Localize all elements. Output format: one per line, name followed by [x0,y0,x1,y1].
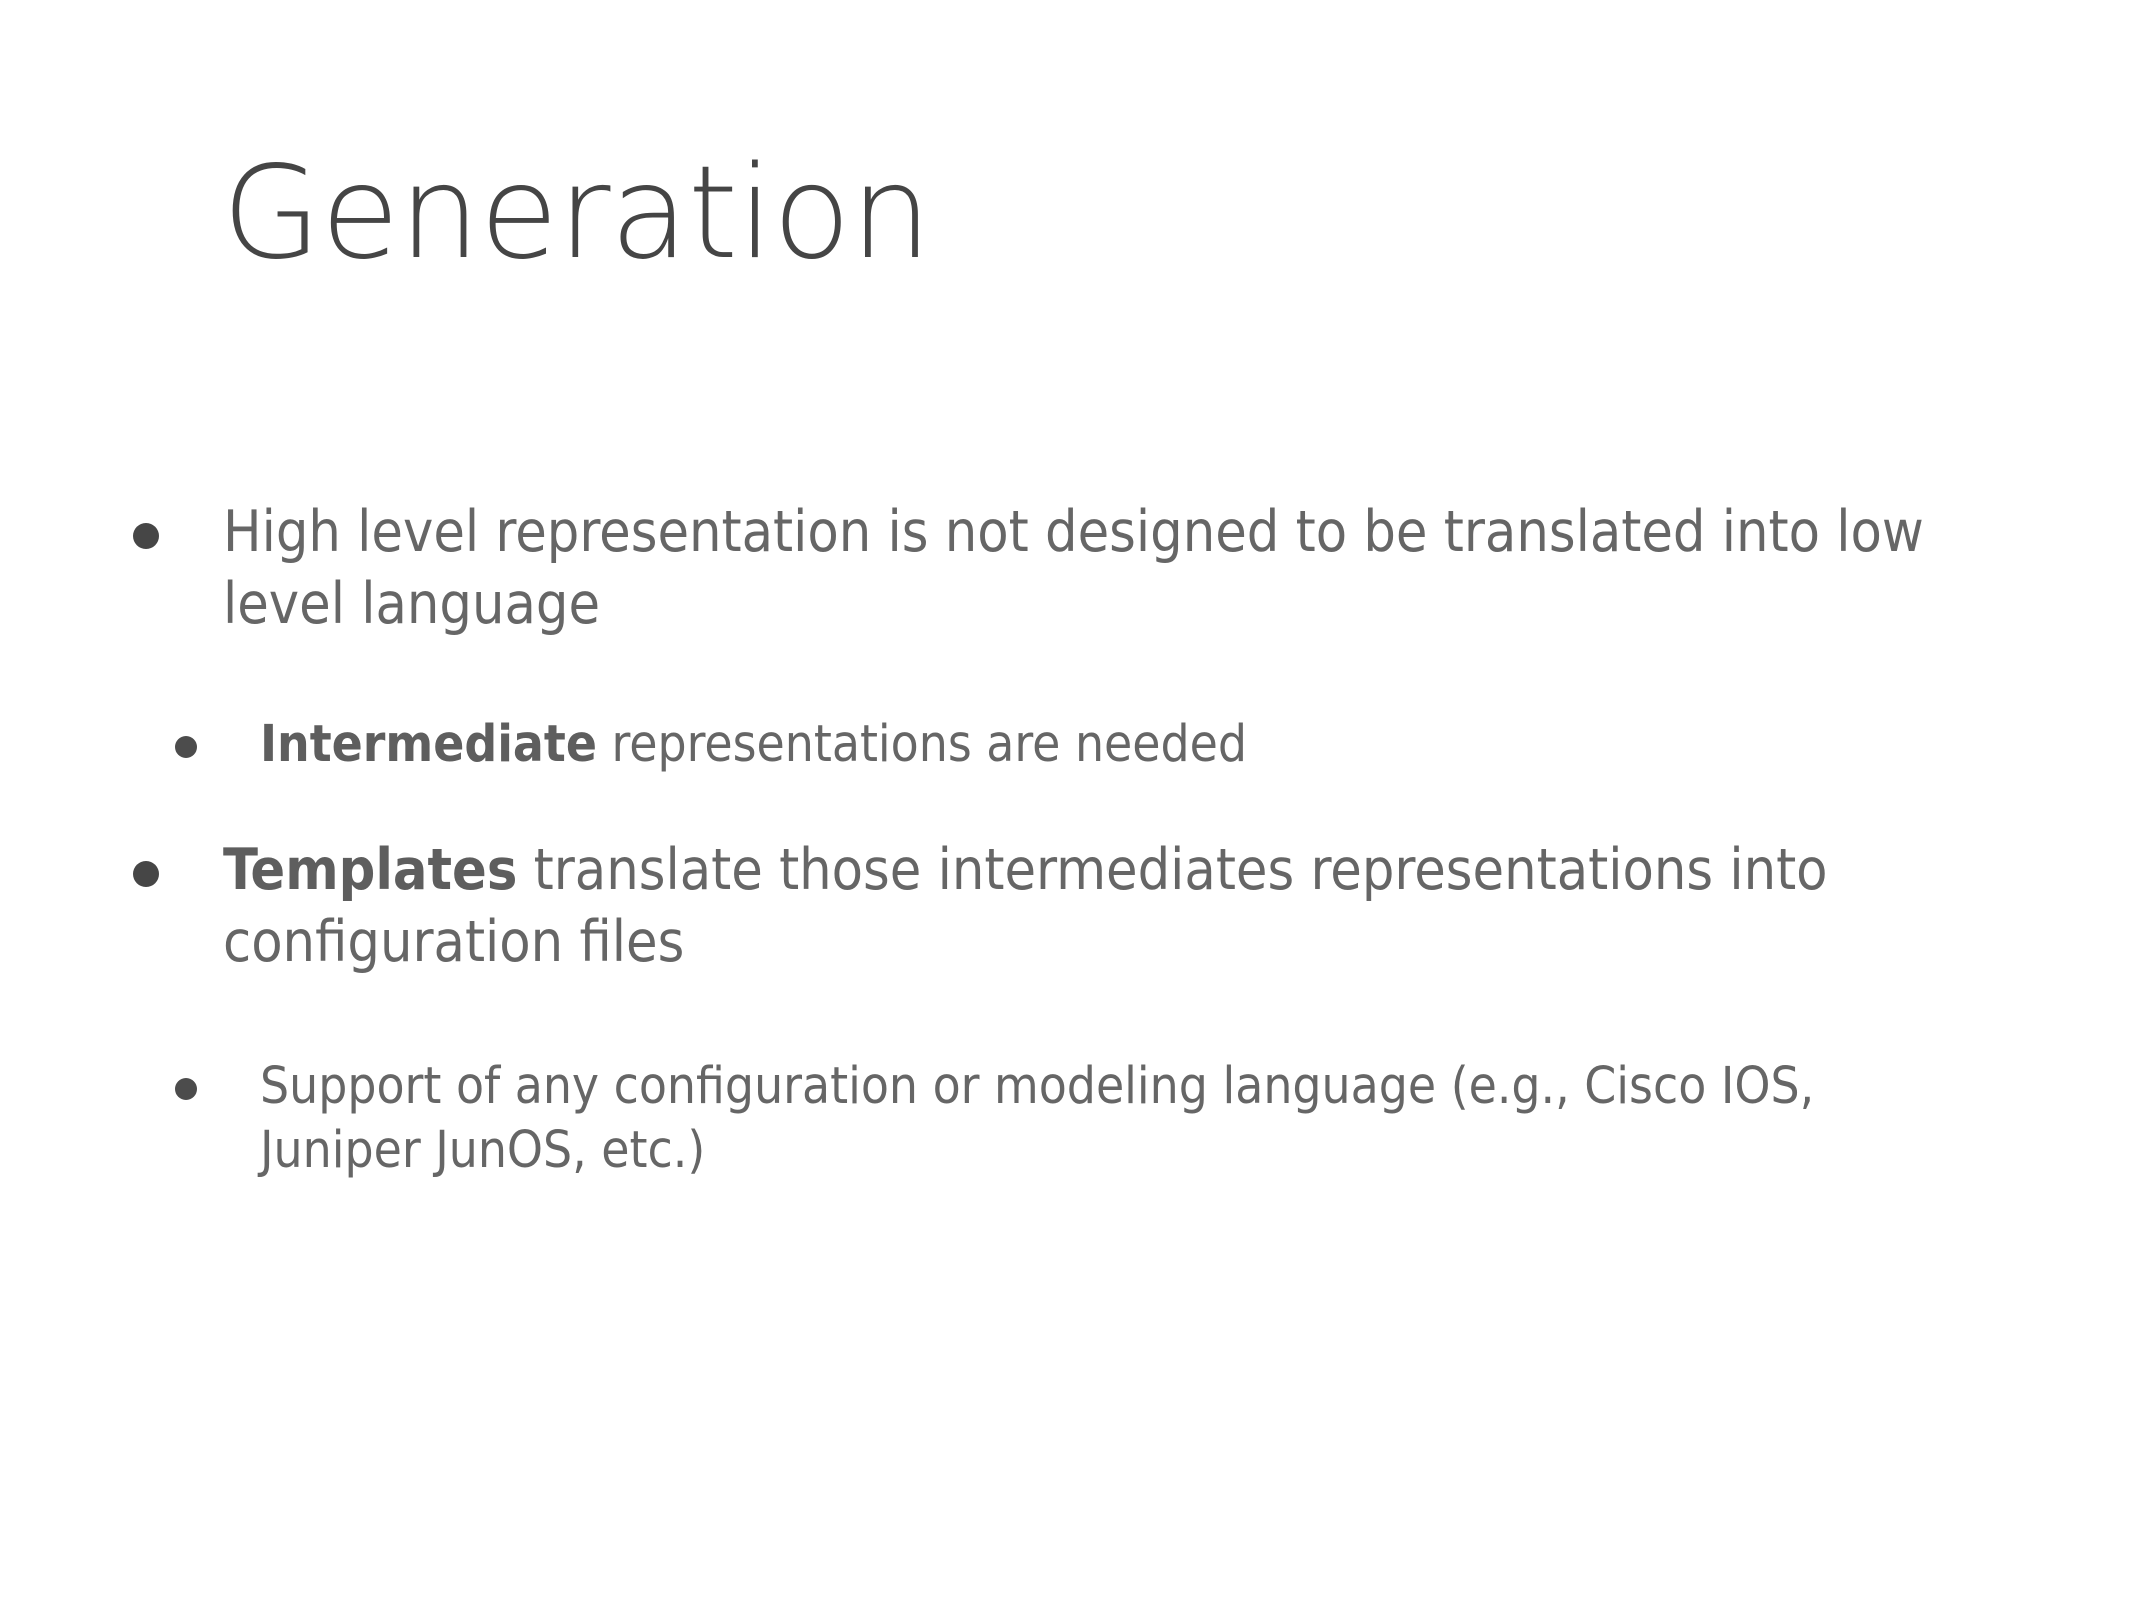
bullet-marker-icon [133,497,223,549]
list-item-text: Support of any configuration or modeling… [260,1055,1960,1184]
spacer [0,979,2134,1055]
bullet-marker-icon [133,835,223,887]
bullet-marker-icon [175,713,260,758]
list-item: Support of any configuration or modeling… [0,1055,2134,1184]
list-item-body: representations are needed [597,715,1247,774]
list-item-text: High level representation is not designe… [223,497,1968,641]
spacer [0,777,2134,835]
bullet-list: High level representation is not designe… [0,497,2134,1183]
list-item-text: Templates translate those intermediates … [223,835,1968,979]
list-item: High level representation is not designe… [0,497,2134,641]
list-item-lead-bold: Intermediate [260,715,597,774]
presentation-slide: Generation High level representation is … [0,0,2134,1600]
list-item: Intermediate representations are needed [0,713,2134,777]
list-item-lead-bold: Templates [223,837,517,903]
list-item-body: Support of any configuration or modeling… [260,1057,1814,1180]
bullet-marker-icon [175,1055,260,1100]
spacer [0,641,2134,713]
page-title: Generation [222,150,931,278]
list-item-text: Intermediate representations are needed [260,713,1247,777]
list-item-body: High level representation is not designe… [223,499,1924,637]
list-item: Templates translate those intermediates … [0,835,2134,979]
